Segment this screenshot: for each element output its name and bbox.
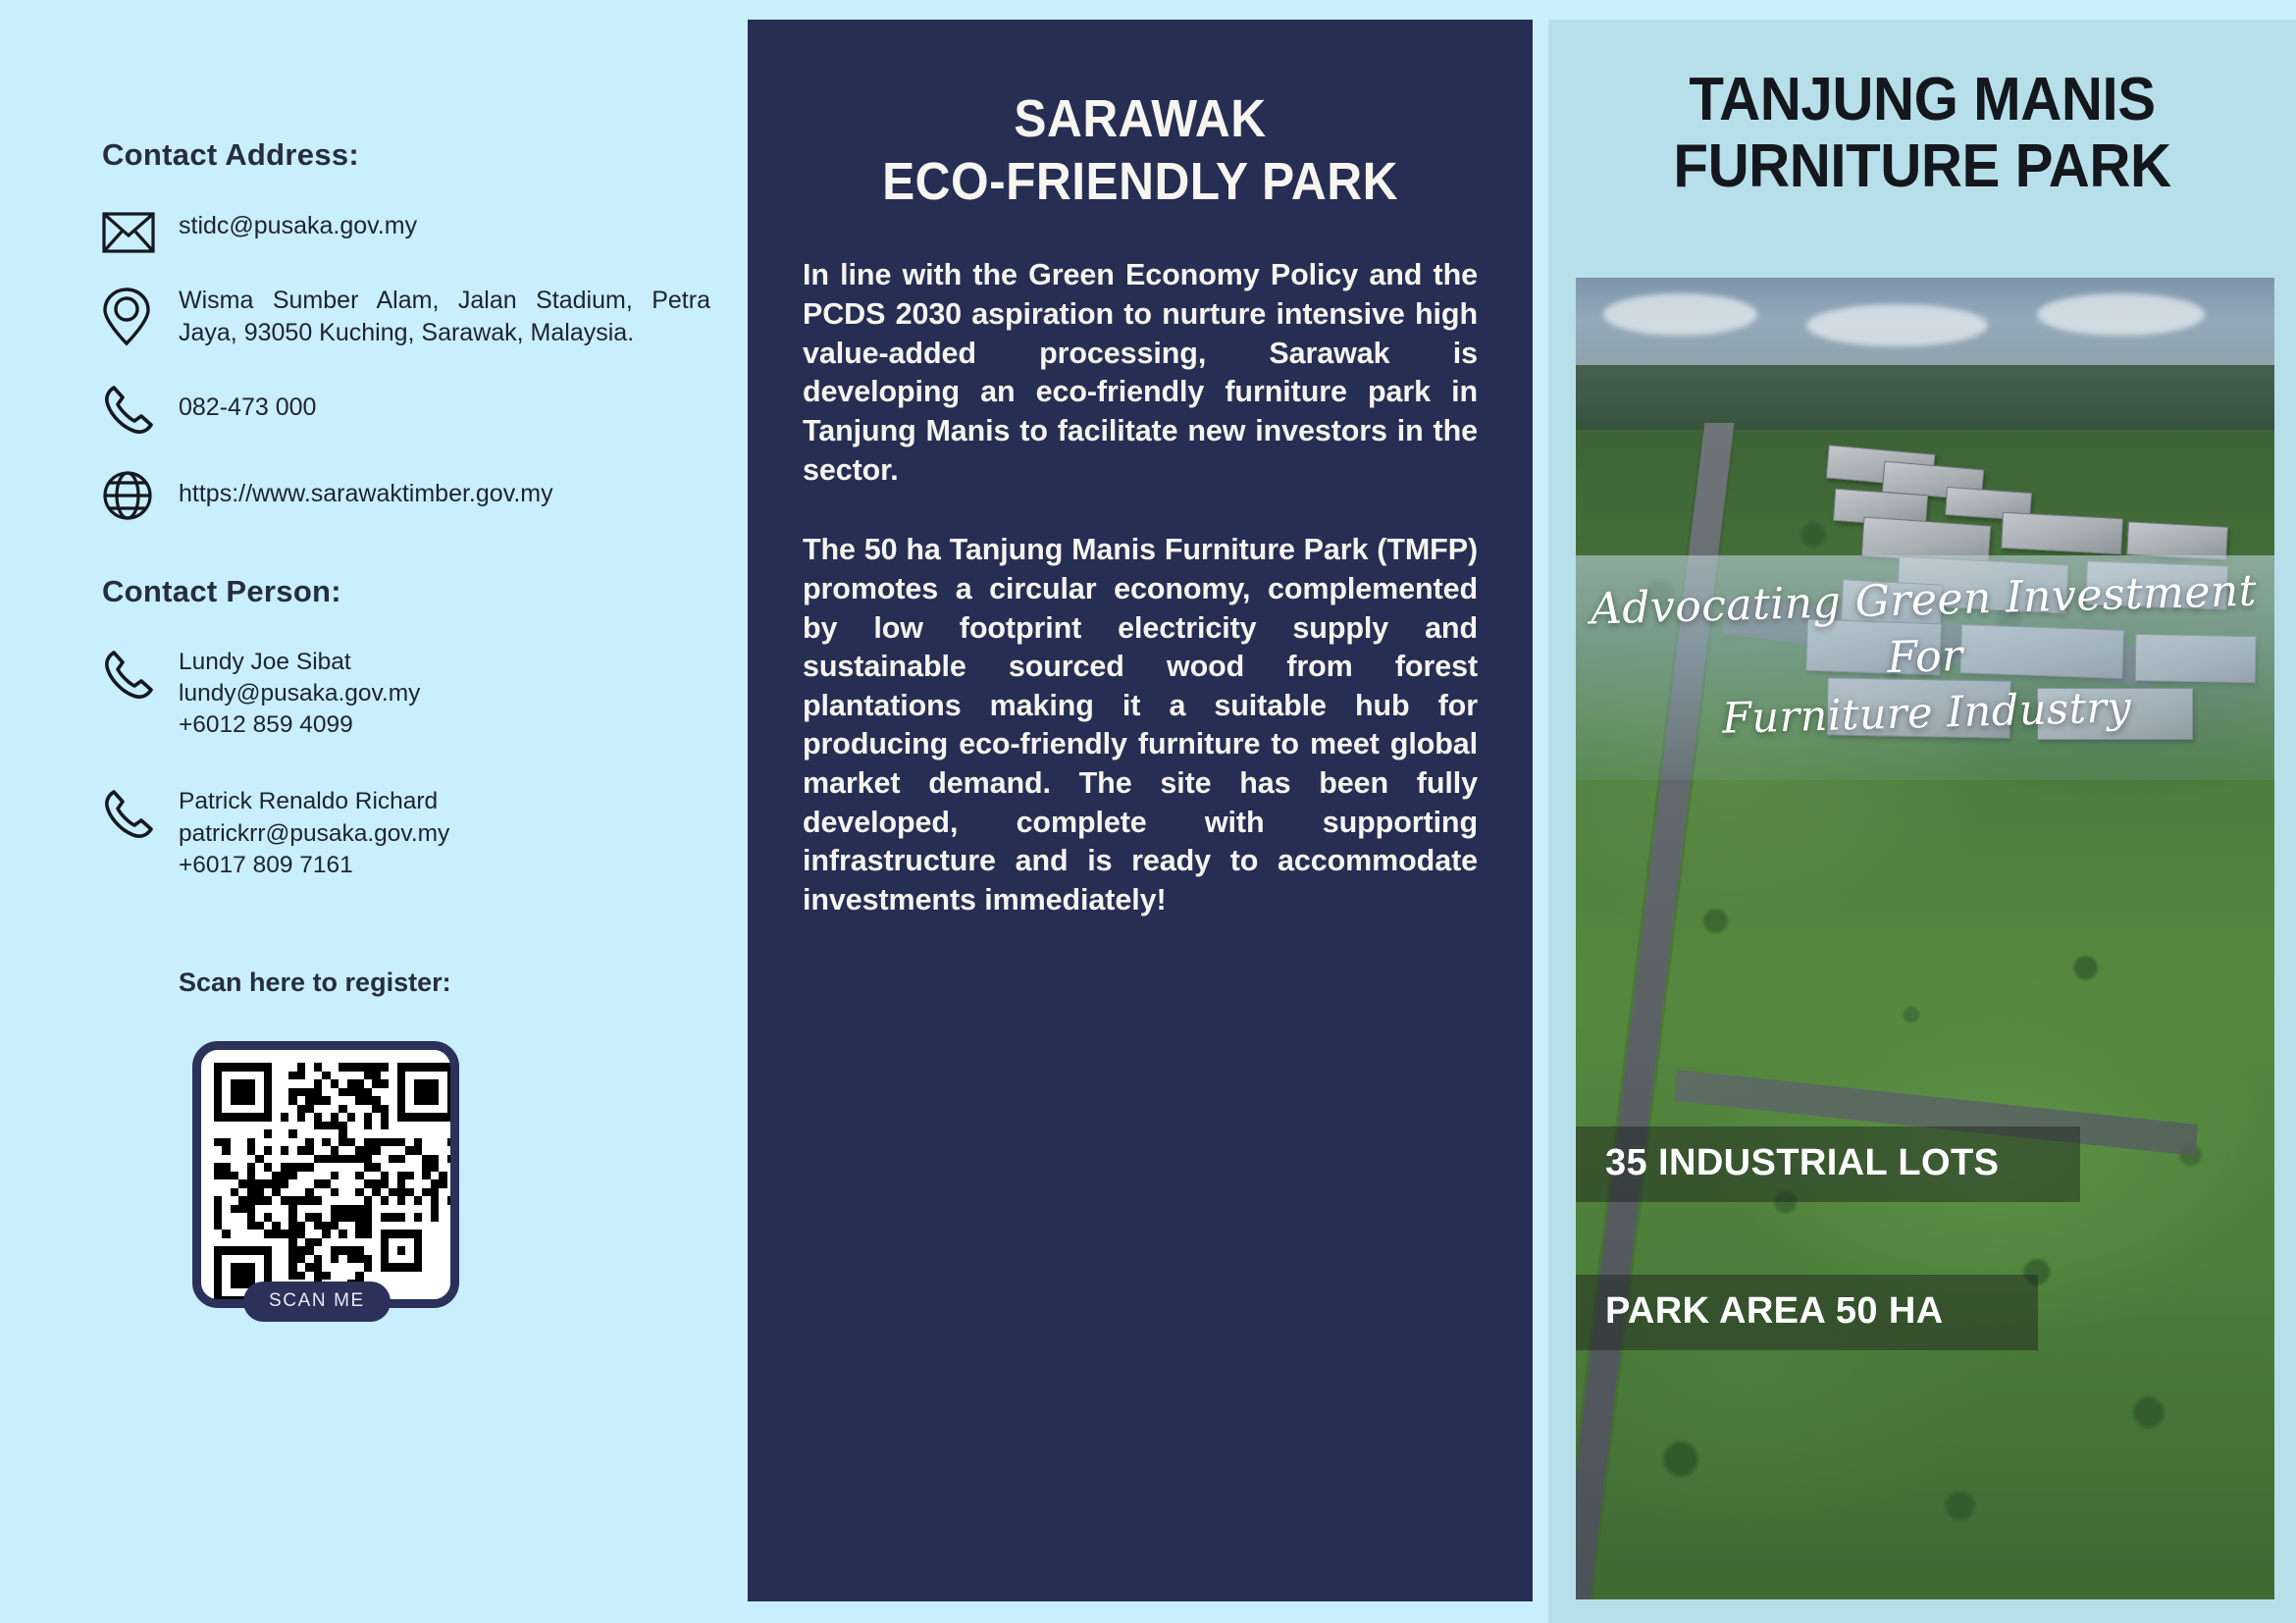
contact-phone-row: 082-473 000 [102,382,710,437]
location-pin-icon [102,285,179,347]
person-1-name: Lundy Joe Sibat [179,647,710,678]
warehouse-building [2127,521,2228,560]
cover-title-line1: TANJUNG MANIS [1598,67,2246,133]
stat-park-area: PARK AREA 50 HA [1576,1275,2038,1350]
center-title-line2: ECO-FRIENDLY PARK [830,151,1451,214]
contact-website-row: https://www.sarawaktimber.gov.my [102,468,710,521]
phone-icon [102,382,179,437]
cover-title: TANJUNG MANIS FURNITURE PARK [1598,67,2246,199]
contact-address-row: Wisma Sumber Alam, Jalan Stadium, Petra … [102,285,710,350]
contact-person-heading: Contact Person: [102,574,710,609]
contact-email-row: stidc@pusaka.gov.my [102,210,710,253]
cover-panel: TANJUNG MANIS FURNITURE PARK [1548,20,2296,1623]
scan-heading: Scan here to register: [179,968,710,998]
contact-address: Wisma Sumber Alam, Jalan Stadium, Petra … [179,285,710,350]
phone-icon [102,786,179,841]
center-body: In line with the Green Economy Policy an… [803,256,1478,919]
qr-frame [192,1041,459,1308]
contact-website[interactable]: https://www.sarawaktimber.gov.my [179,468,710,510]
person-2-email[interactable]: patrickrr@pusaka.gov.my [179,818,710,850]
cloud-shape [2037,293,2205,336]
contact-person-1: Lundy Joe Sibat lundy@pusaka.gov.my +601… [102,647,710,742]
contact-email[interactable]: stidc@pusaka.gov.my [179,210,710,242]
qr-modules [214,1063,455,1304]
person-2-name: Patrick Renaldo Richard [179,786,710,817]
tagline-line1: Advocating Green Investment For [1576,562,2274,696]
contact-address-heading: Contact Address: [102,137,710,173]
stat-industrial-lots: 35 INDUSTRIAL LOTS [1576,1126,2080,1202]
center-title: SARAWAK ECO-FRIENDLY PARK [830,88,1451,213]
person-2-mobile[interactable]: +6017 809 7161 [179,850,710,881]
contact-phone[interactable]: 082-473 000 [179,382,710,424]
phone-icon [102,647,179,702]
warehouse-building [2001,512,2123,554]
contact-panel: Contact Address: stidc@pusaka.gov.my [0,0,748,1623]
contact-person-2: Patrick Renaldo Richard patrickrr@pusaka… [102,786,710,881]
scan-me-badge: SCAN ME [243,1282,391,1322]
cloud-shape [1806,304,1988,346]
cover-tagline: Advocating Green Investment For Furnitur… [1576,562,2274,752]
person-1-mobile[interactable]: +6012 859 4099 [179,709,710,741]
cloud-shape [1603,293,1757,336]
brochure-page: Contact Address: stidc@pusaka.gov.my [0,0,2296,1623]
qr-code[interactable]: SCAN ME [192,1041,459,1308]
description-panel: SARAWAK ECO-FRIENDLY PARK In line with t… [748,20,1533,1601]
center-paragraph-2: The 50 ha Tanjung Manis Furniture Park (… [803,531,1478,919]
aerial-photo: Advocating Green Investment For Furnitur… [1576,278,2274,1599]
center-title-line1: SARAWAK [830,88,1451,151]
cover-title-line2: FURNITURE PARK [1598,133,2246,200]
person-1-email[interactable]: lundy@pusaka.gov.my [179,678,710,709]
center-paragraph-1: In line with the Green Economy Policy an… [803,256,1478,490]
globe-icon [102,468,179,521]
envelope-icon [102,210,179,253]
